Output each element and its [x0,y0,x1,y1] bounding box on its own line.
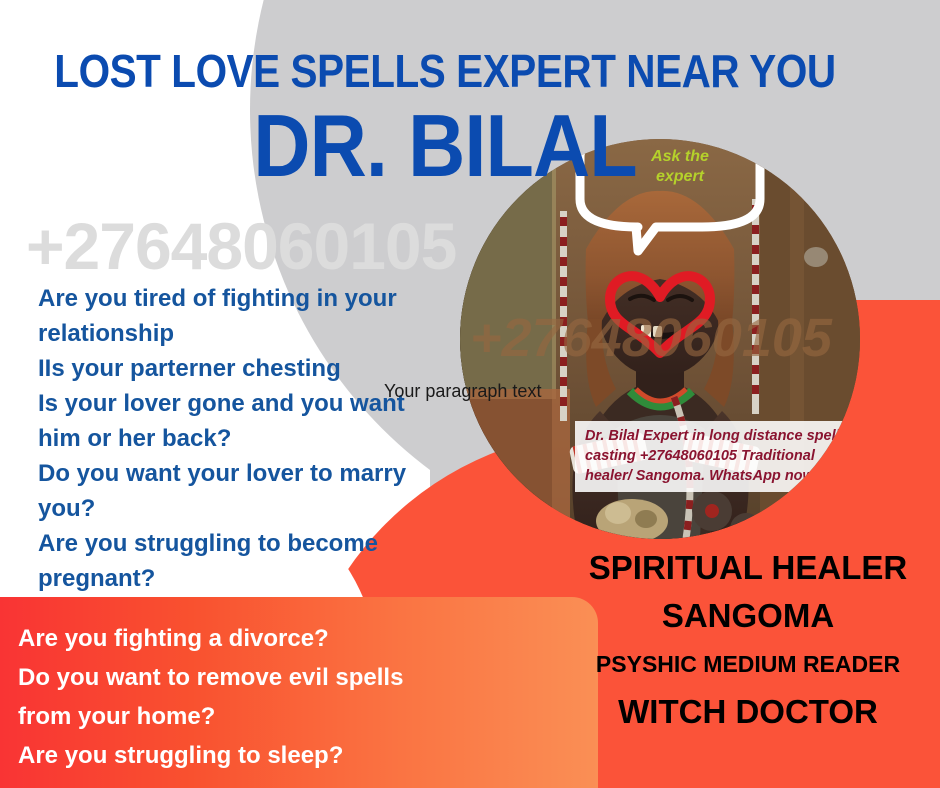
panel-line: Are you struggling to sleep? [18,736,598,775]
panel-line: from your home? [18,697,598,736]
placeholder-paragraph-text: Your paragraph text [384,381,541,402]
question-line: Are you tired of fighting in your [38,281,468,316]
question-line: Do you want your lover to marry [38,456,468,491]
services-list: SPIRITUAL HEALER SANGOMA PSYSHIC MEDIUM … [556,546,940,738]
caption-line: casting +27648060105 Traditional [585,446,860,466]
service-sangoma: SANGOMA [556,590,940,642]
practitioner-name: DR. BILAL [45,102,846,190]
panel-line: Do you want to remove evil spells [18,658,598,697]
practitioner-photo: Ask the expert +27648060105 Dr. Bilal Ex… [460,139,860,539]
caption-line: Dr. Bilal Expert in long distance spells [585,426,860,446]
poster-canvas: LOST LOVE SPELLS EXPERT NEAR YOU DR. BIL… [0,0,940,788]
headline-block: LOST LOVE SPELLS EXPERT NEAR YOU DR. BIL… [0,48,890,190]
photo-caption: Dr. Bilal Expert in long distance spells… [575,421,860,492]
question-line: him or her back? [38,421,468,456]
question-line: Are you struggling to become [38,526,468,561]
page-title: LOST LOVE SPELLS EXPERT NEAR YOU [53,48,836,94]
phone-number-watermark-photo: +27648060105 [460,307,860,369]
panel-line: Are you fighting a divorce? [18,619,598,658]
service-psychic-medium-reader: PSYSHIC MEDIUM READER [556,642,940,686]
question-line: you? [38,491,468,526]
service-spiritual-healer: SPIRITUAL HEALER [556,546,940,590]
question-list: Are you tired of fighting in your relati… [38,281,468,596]
questions-panel: Are you fighting a divorce? Do you want … [0,597,598,788]
caption-line: healer/ Sangoma. WhatsApp now [585,466,860,486]
question-line: relationship [38,316,468,351]
service-witch-doctor: WITCH DOCTOR [556,686,940,738]
question-line: pregnant? [38,561,468,596]
phone-number-watermark-large: +27648060105 [26,208,456,284]
